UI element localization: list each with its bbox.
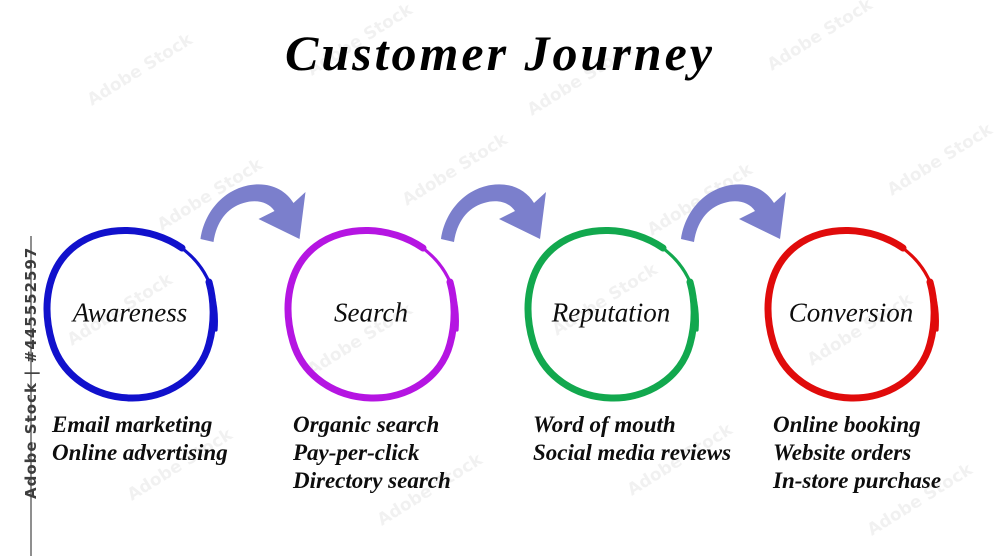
stage-label-reputation: Reputation <box>552 298 670 329</box>
detail-item: Online booking <box>773 411 941 439</box>
detail-item: In-store purchase <box>773 467 941 495</box>
stage-arrows <box>201 184 787 242</box>
detail-item: Pay-per-click <box>293 439 451 467</box>
flow-arrow-reputation-to-conversion <box>681 184 786 242</box>
detail-item: Website orders <box>773 439 941 467</box>
detail-list-awareness: Email marketingOnline advertising <box>52 411 228 467</box>
page-title: Customer Journey <box>0 24 1000 82</box>
flow-arrow-awareness-to-search <box>201 184 306 242</box>
diagram-canvas: Adobe Stock Adobe Stock Adobe Stock Adob… <box>0 0 1000 558</box>
detail-item: Word of mouth <box>533 411 731 439</box>
detail-item: Online advertising <box>52 439 228 467</box>
stage-label-conversion: Conversion <box>789 298 914 329</box>
detail-list-conversion: Online bookingWebsite ordersIn-store pur… <box>773 411 941 495</box>
flow-arrow-search-to-reputation <box>441 184 546 242</box>
detail-item: Directory search <box>293 467 451 495</box>
detail-list-reputation: Word of mouthSocial media reviews <box>533 411 731 467</box>
detail-item: Social media reviews <box>533 439 731 467</box>
watermark-sidebar-text: Adobe Stock | #445552597 <box>22 279 40 499</box>
detail-item: Organic search <box>293 411 451 439</box>
stage-label-search: Search <box>334 298 408 329</box>
detail-item: Email marketing <box>52 411 228 439</box>
stage-label-awareness: Awareness <box>73 298 188 329</box>
detail-list-search: Organic searchPay-per-clickDirectory sea… <box>293 411 451 495</box>
